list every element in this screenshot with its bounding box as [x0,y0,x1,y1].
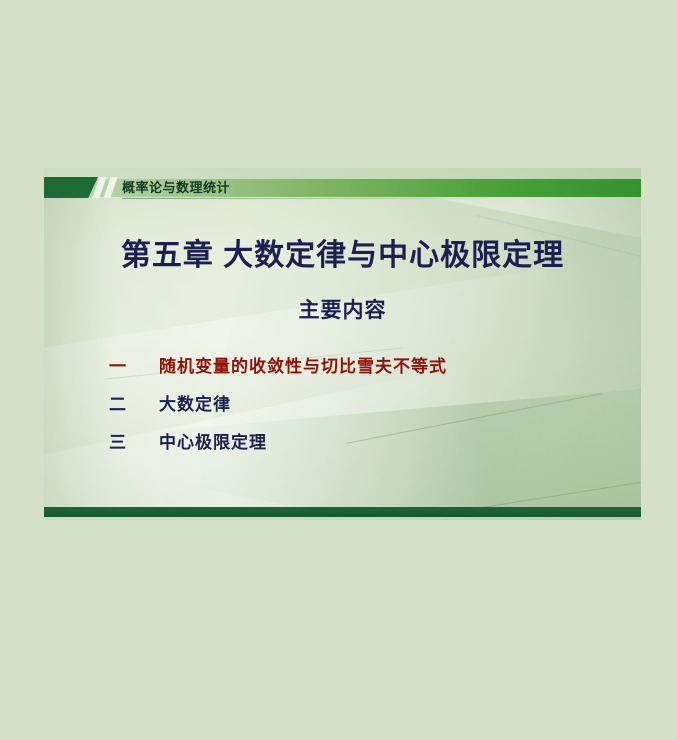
header-underline [122,198,542,199]
agenda-item-1-label: 随机变量的收敛性与切比雪夫不等式 [159,352,447,377]
course-title: 概率论与数理统计 [122,177,230,198]
agenda-item-1-number: 一 [109,352,159,377]
agenda-item-2: 二 大数定律 [109,390,589,428]
agenda-item-3-number: 三 [109,428,159,453]
agenda-item-3-label: 中心极限定理 [159,428,267,453]
footer-bar [44,507,641,517]
presentation-slide: 概率论与数理统计 第五章 大数定律与中心极限定理 主要内容 一 随机变量的收敛性… [44,168,641,520]
chapter-title: 第五章 大数定律与中心极限定理 [44,230,641,274]
agenda-item-1: 一 随机变量的收敛性与切比雪夫不等式 [109,352,589,390]
agenda-list: 一 随机变量的收敛性与切比雪夫不等式 二 大数定律 三 中心极限定理 [109,352,589,466]
footer-strip [44,517,641,520]
agenda-item-2-number: 二 [109,390,159,415]
slide-background-shading [44,168,641,520]
agenda-item-2-label: 大数定律 [159,390,231,415]
agenda-item-3: 三 中心极限定理 [109,428,589,466]
section-subtitle: 主要内容 [44,294,641,324]
